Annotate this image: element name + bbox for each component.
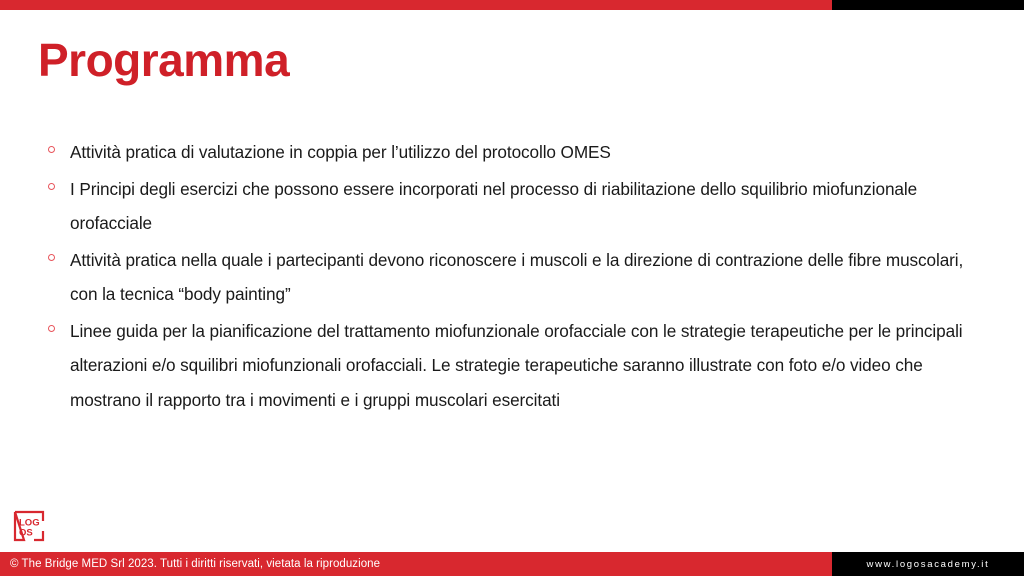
footer-copyright: © The Bridge MED Srl 2023. Tutti i dirit… bbox=[0, 552, 832, 576]
list-item-text: Attività pratica di valutazione in coppi… bbox=[70, 135, 978, 170]
hollow-circle-bullet-icon bbox=[48, 243, 70, 261]
hollow-circle-bullet-icon bbox=[48, 172, 70, 190]
list-item: Attività pratica nella quale i partecipa… bbox=[48, 243, 978, 312]
list-item-text: Attività pratica nella quale i partecipa… bbox=[70, 243, 978, 312]
top-accent-bar-black bbox=[832, 0, 1024, 10]
bullet-list: Attività pratica di valutazione in coppi… bbox=[48, 135, 978, 419]
hollow-circle-bullet-icon bbox=[48, 314, 70, 332]
logo-line2-text: OS bbox=[19, 528, 33, 539]
list-item-text: I Principi degli esercizi che possono es… bbox=[70, 172, 978, 241]
hollow-circle-bullet-icon bbox=[48, 135, 70, 153]
footer-website[interactable]: www.logosacademy.it bbox=[832, 552, 1024, 576]
list-item-text: Linee guida per la pianificazione del tr… bbox=[70, 314, 978, 418]
footer-bar: © The Bridge MED Srl 2023. Tutti i dirit… bbox=[0, 552, 1024, 576]
list-item: Linee guida per la pianificazione del tr… bbox=[48, 314, 978, 418]
list-item: I Principi degli esercizi che possono es… bbox=[48, 172, 978, 241]
top-accent-bar bbox=[0, 0, 1024, 10]
list-item: Attività pratica di valutazione in coppi… bbox=[48, 135, 978, 170]
slide-root: { "colors": { "brand_red": "#d8282f", "t… bbox=[0, 0, 1024, 576]
page-title: Programma bbox=[38, 35, 289, 86]
top-accent-bar-red bbox=[0, 0, 832, 10]
logos-logo: LOG OS bbox=[12, 509, 46, 543]
